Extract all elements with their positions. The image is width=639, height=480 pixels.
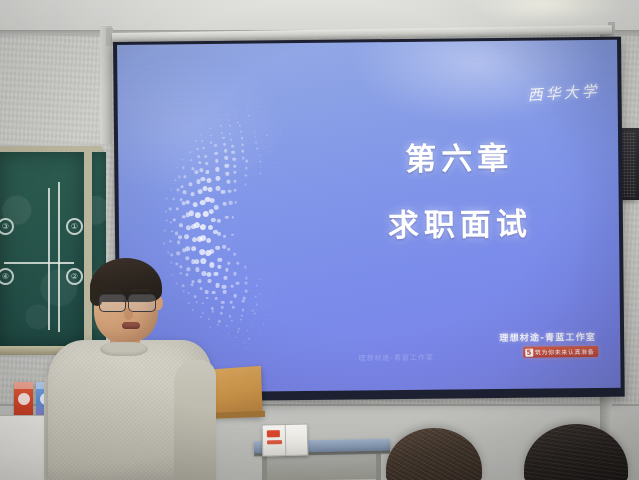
presenter-collar [100,342,148,356]
classroom-photo: ③ ① ④ ② 西华大学 第六章 求职面试 理想材途-青蓝工作室 理想材途-青蓝… [0,0,639,480]
glasses-lens-right [128,294,156,312]
glasses-lens-left [99,294,126,312]
red-product-box [14,382,33,418]
presenter-mouth [122,322,140,329]
desk-equipment-box [262,424,309,457]
device-label-upper [267,430,280,437]
desk-leg-right [376,450,381,480]
front-desk-body [262,453,381,480]
red-box-top [14,382,33,389]
red-box-graphic [18,393,30,405]
glasses-bridge [123,300,129,302]
presenter-eyebrow-right [130,289,150,292]
device-label-lower [267,440,282,444]
device-panel-seam [285,425,287,455]
ceiling-light-glow [470,0,620,24]
chalk-circle-1: ① [66,218,83,235]
presenter-eyebrow-left [101,289,121,292]
presenter-nose [124,308,133,320]
presenter-arm-right [174,360,216,480]
presenter [44,250,216,480]
